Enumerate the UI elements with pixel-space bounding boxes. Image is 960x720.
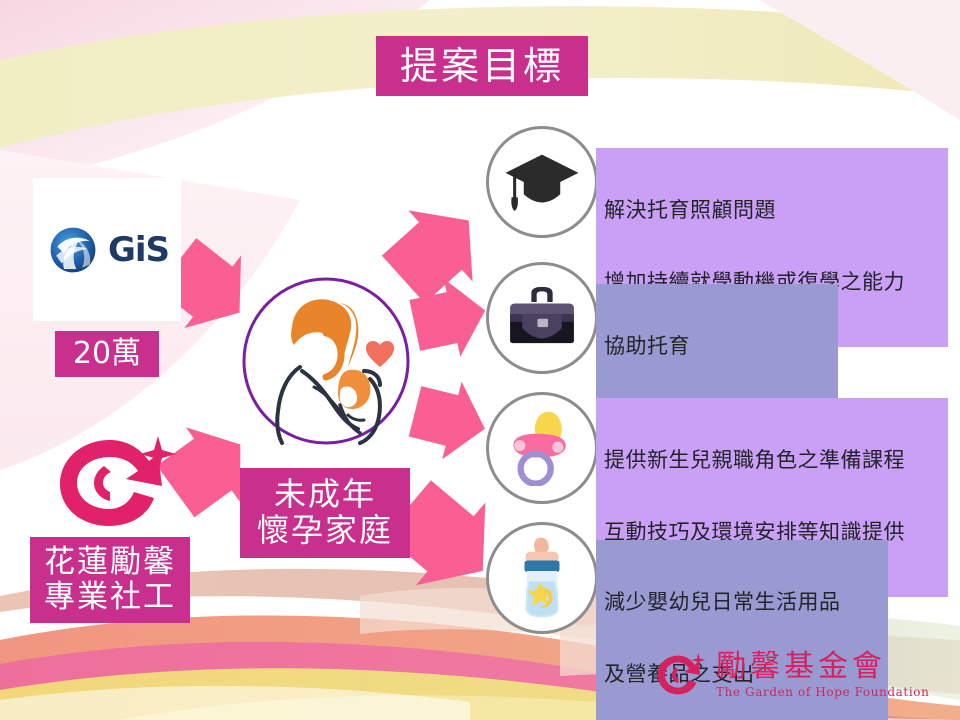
page-title-text: 提案目標 bbox=[400, 47, 564, 85]
page-title: 提案目標 bbox=[376, 36, 588, 96]
gis-wordmark: GiS bbox=[108, 230, 169, 270]
amount-tag-text: 20萬 bbox=[73, 337, 141, 371]
gis-swirl-icon bbox=[45, 222, 101, 278]
arrow-center-to-goal-3 bbox=[405, 372, 494, 467]
social-worker-tag-line2: 專業社工 bbox=[44, 580, 176, 615]
social-worker-tag: 花蓮勵馨 專業社工 bbox=[30, 537, 190, 623]
slide-canvas: 提案目標 GiS 20萬 bbox=[0, 0, 960, 720]
footer-org-en: The Garden of Hope Foundation bbox=[716, 686, 929, 698]
footer-org-cn: 勵馨基金會 bbox=[716, 652, 929, 682]
mother-and-baby-icon bbox=[240, 275, 412, 447]
amount-tag: 20萬 bbox=[55, 331, 159, 377]
center-label-line2: 懷孕家庭 bbox=[257, 513, 393, 549]
center-label: 未成年 懷孕家庭 bbox=[240, 468, 410, 558]
social-worker-tag-line1: 花蓮勵馨 bbox=[44, 545, 176, 580]
sponsor-logo-card: GiS bbox=[33, 178, 181, 321]
garden-of-hope-footer-icon bbox=[650, 650, 708, 700]
garden-of-hope-icon bbox=[30, 424, 190, 532]
center-label-line1: 未成年 bbox=[274, 477, 376, 513]
footer-logo: 勵馨基金會 The Garden of Hope Foundation bbox=[650, 643, 950, 707]
